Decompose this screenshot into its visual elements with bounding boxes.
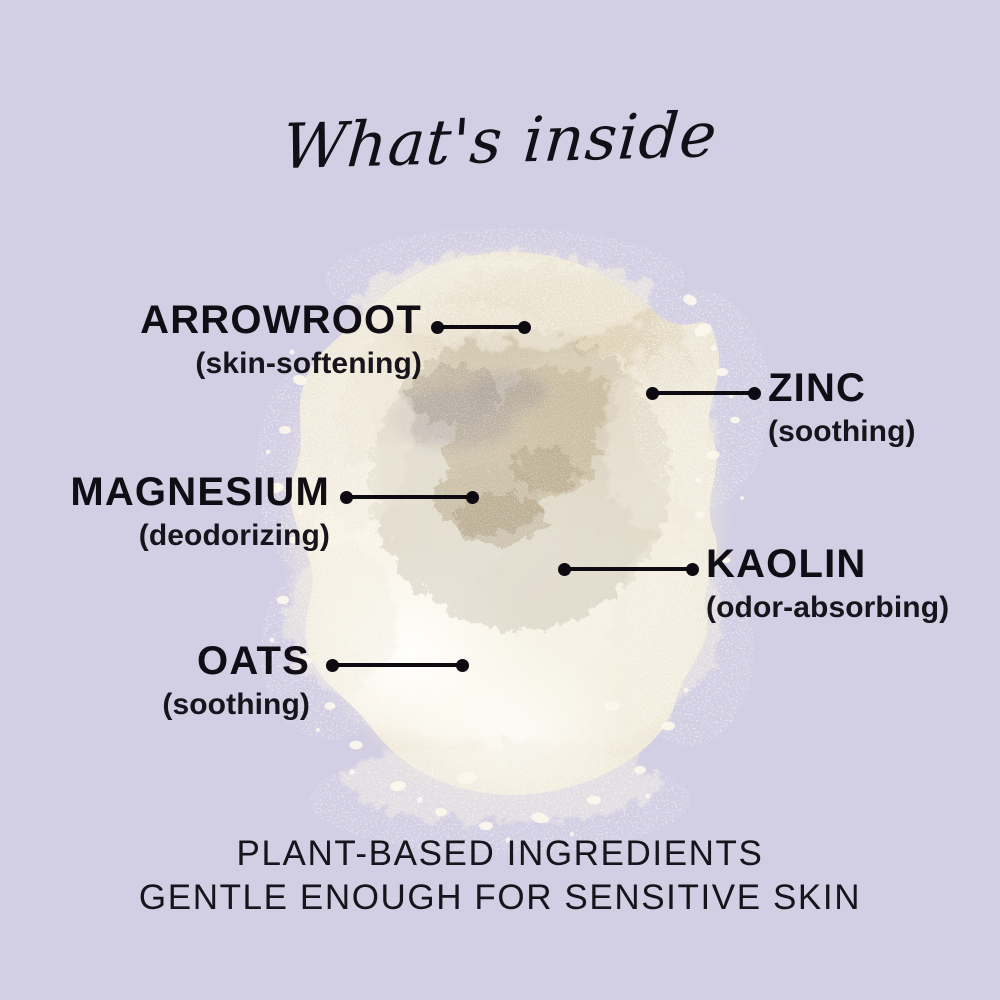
leader-dot-end — [466, 491, 479, 504]
leader-dot-start — [340, 491, 353, 504]
callout-effect-magnesium: (deodorizing) — [70, 521, 330, 551]
leader-line-magnesium — [341, 490, 478, 504]
callout-effect-zinc: (soothing) — [768, 417, 916, 447]
callout-magnesium: MAGNESIUM (deodorizing) — [70, 472, 330, 551]
footer-line-2: GENTLE ENOUGH FOR SENSITIVE SKIN — [0, 876, 1000, 920]
callout-name-arrowroot: ARROWROOT — [140, 300, 422, 340]
callout-name-magnesium: MAGNESIUM — [70, 472, 330, 512]
leader-line-zinc — [647, 386, 760, 400]
callout-name-oats: OATS — [162, 641, 310, 681]
leader-bar — [436, 325, 526, 329]
callout-effect-oats: (soothing) — [162, 690, 310, 720]
callout-zinc: ZINC (soothing) — [768, 368, 916, 447]
footer-tagline: PLANT-BASED INGREDIENTS GENTLE ENOUGH FO… — [0, 832, 1000, 921]
callout-effect-kaolin: (odor-absorbing) — [706, 593, 949, 623]
callout-kaolin: KAOLIN (odor-absorbing) — [706, 544, 949, 623]
leader-dot-end — [748, 387, 761, 400]
leader-line-kaolin — [559, 562, 698, 576]
footer-line-1: PLANT-BASED INGREDIENTS — [0, 832, 1000, 876]
leader-dot-start — [431, 321, 444, 334]
leader-dot-start — [558, 563, 571, 576]
callout-oats: OATS (soothing) — [162, 641, 310, 720]
callout-name-zinc: ZINC — [768, 368, 916, 408]
callout-arrowroot: ARROWROOT (skin-softening) — [140, 300, 422, 379]
leader-dot-end — [518, 321, 531, 334]
leader-dot-end — [456, 659, 469, 672]
leader-dot-start — [646, 387, 659, 400]
leader-line-oats — [327, 658, 468, 672]
ingredient-infographic: What's inside ARROWROOT (skin-softening)… — [0, 0, 1000, 1000]
page-title: What's inside — [0, 90, 1000, 191]
callout-name-kaolin: KAOLIN — [706, 544, 949, 584]
leader-line-arrowroot — [432, 320, 530, 334]
callout-effect-arrowroot: (skin-softening) — [140, 349, 422, 379]
leader-bar — [331, 663, 464, 667]
leader-dot-start — [326, 659, 339, 672]
leader-bar — [345, 495, 474, 499]
leader-dot-end — [686, 563, 699, 576]
leader-bar — [651, 391, 756, 395]
leader-bar — [563, 567, 694, 571]
